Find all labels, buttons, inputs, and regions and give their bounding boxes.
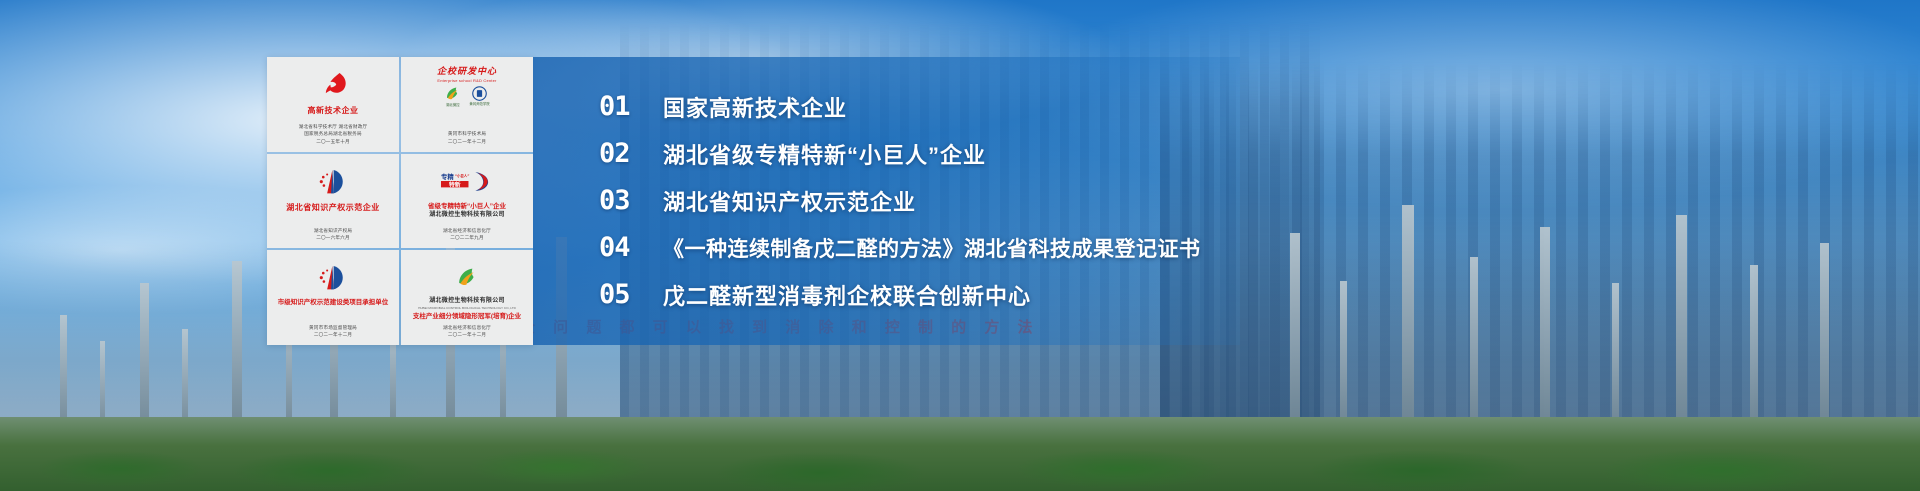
certificate-title: 支柱产业细分领域隐形冠军(培育)企业: [413, 313, 521, 321]
svg-text:“小巨人”: “小巨人”: [455, 173, 470, 178]
certificate-logo: [455, 257, 479, 297]
certificate-issuer: 湖北省经济和信息化厅 二〇二一年十二月: [443, 324, 491, 340]
honor-number: 03: [599, 185, 663, 216]
partner-left-name: 湖北微控: [446, 102, 460, 107]
certificate-issuer: 湖北省经济和信息化厅 二〇二二年九月: [443, 227, 491, 243]
university-seal-icon: [472, 86, 487, 101]
ip-star-sail-icon: [318, 168, 348, 194]
zhuanjing-texin-icon: 专精 “小巨人” 特新: [440, 170, 494, 192]
certificate-logo: 专精 “小巨人” 特新: [440, 161, 494, 201]
ground-vegetation: [0, 417, 1920, 491]
certificate-title: 湖北省知识产权示范企业: [286, 203, 380, 213]
partner-right-name: 黄冈师范学院: [469, 101, 489, 106]
company-name-en: HUBEI MICROBIAL CONTROL BIOLOGICAL TECHN…: [418, 306, 516, 310]
honor-list-item[interactable]: 02 湖北省级专精特新“小巨人”企业: [599, 130, 1240, 177]
ip-star-sail-icon: [318, 264, 348, 290]
certificate-card-hidden-champion-cultivation[interactable]: 湖北微控生物科技有限公司 HUBEI MICROBIAL CONTROL BIO…: [401, 250, 533, 345]
honor-list-item[interactable]: 03 湖北省知识产权示范企业: [599, 177, 1240, 224]
honor-number: 01: [599, 91, 663, 122]
honor-text: 湖北省知识产权示范企业: [663, 185, 916, 217]
honor-text: 国家高新技术企业: [663, 91, 847, 123]
certificate-logo: [318, 161, 348, 201]
certificate-title: 市级知识产权示范建设类项目承担单位: [278, 299, 389, 307]
partner-logos: 湖北微控 黄冈师范学院: [444, 85, 489, 107]
certificate-card-municipal-ip-demonstration-project[interactable]: 市级知识产权示范建设类项目承担单位 黄冈市市场监督管理局 二〇二一年十二月: [267, 250, 399, 345]
rnd-center-title-en: Enterprise school R&D Center: [437, 78, 496, 83]
honor-number: 05: [599, 279, 663, 310]
certificate-title: 省级专精特新“小巨人”企业: [428, 203, 506, 211]
certificate-logo: [318, 257, 348, 297]
honor-text: 《一种连续制备戊二醛的方法》湖北省科技成果登记证书: [663, 233, 1201, 263]
red-flame-icon: [320, 71, 346, 97]
certificate-card-high-tech-enterprise[interactable]: 高新技术企业 湖北省科学技术厅 湖北省财政厅 国家税务总局湖北省税务局 二〇一五…: [267, 57, 399, 152]
certificate-card-hubei-ip-demonstration-enterprise[interactable]: 湖北省知识产权示范企业 湖北省知识产权局 二〇一六年六月: [267, 154, 399, 249]
honor-text: 戊二醛新型消毒剂企校联合创新中心: [663, 279, 1031, 311]
company-name-cn: 湖北微控生物科技有限公司: [429, 298, 505, 306]
certificate-issuer: 黄冈市市场监督管理局 二〇二一年十二月: [309, 324, 357, 340]
svg-text:专精: 专精: [441, 172, 454, 181]
certificate-logo: 企校研发中心 Enterprise school R&D Center: [437, 64, 497, 83]
certificate-issuer: 湖北省科学技术厅 湖北省财政厅 国家税务总局湖北省税务局 二〇一五年十月: [299, 123, 368, 146]
certificate-grid: 高新技术企业 湖北省科学技术厅 湖北省财政厅 国家税务总局湖北省税务局 二〇一五…: [267, 57, 533, 345]
green-leaf-icon: [444, 85, 461, 102]
honors-banner: 全 问 题 都 可 以 找 到 消 除 和 控 制 的 方 法 高新技术企业 湖…: [0, 0, 1920, 491]
honor-list-item[interactable]: 01 国家高新技术企业: [599, 83, 1240, 130]
certificate-logo: [320, 64, 346, 104]
honor-list-item[interactable]: 05 戊二醛新型消毒剂企校联合创新中心: [599, 271, 1240, 318]
certificate-title: 高新技术企业: [308, 106, 359, 116]
honor-list-item[interactable]: 04 《一种连续制备戊二醛的方法》湖北省科技成果登记证书: [599, 224, 1240, 271]
certificate-card-little-giant-enterprise[interactable]: 专精 “小巨人” 特新 省级专精特新“小巨人”企业 湖北微控生物科技有限公司 湖…: [401, 154, 533, 249]
certificate-card-enterprise-school-rd-center[interactable]: 企校研发中心 Enterprise school R&D Center 湖北微控: [401, 57, 533, 152]
certificate-subtitle: 湖北微控生物科技有限公司: [429, 212, 505, 220]
honor-list-panel: 01 国家高新技术企业 02 湖北省级专精特新“小巨人”企业 03 湖北省知识产…: [533, 57, 1240, 345]
certificate-issuer: 黄冈市科学技术局 二〇二一年十二月: [448, 130, 486, 146]
honor-number: 04: [599, 232, 663, 263]
green-leaf-icon: [455, 265, 479, 289]
honor-number: 02: [599, 138, 663, 169]
certificate-issuer: 湖北省知识产权局 二〇一六年六月: [314, 227, 352, 243]
rnd-center-title-cn: 企校研发中心: [437, 64, 497, 77]
honor-text: 湖北省级专精特新“小巨人”企业: [663, 138, 986, 170]
